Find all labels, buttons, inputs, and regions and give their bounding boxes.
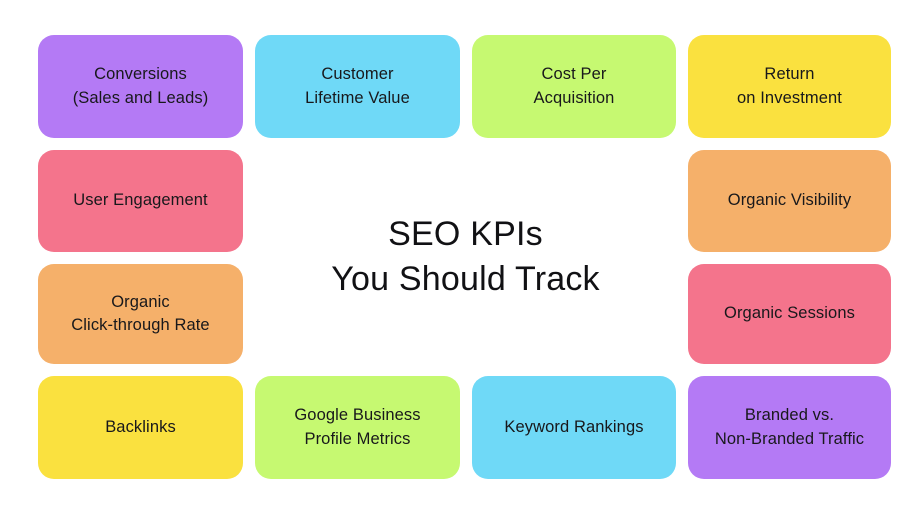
kpi-card-return-on-investment[interactable]: Return on Investment <box>688 35 891 138</box>
kpi-card-cost-per-acquisition[interactable]: Cost Per Acquisition <box>472 35 676 138</box>
title-line-2: You Should Track <box>331 257 599 302</box>
kpi-card-user-engagement[interactable]: User Engagement <box>38 150 243 252</box>
kpi-card-organic-sessions[interactable]: Organic Sessions <box>688 264 891 364</box>
kpi-card-label: Cost Per Acquisition <box>534 63 615 110</box>
kpi-card-label: Keyword Rankings <box>504 416 643 439</box>
kpi-card-conversions[interactable]: Conversions (Sales and Leads) <box>38 35 243 138</box>
kpi-card-label: Google Business Profile Metrics <box>294 404 420 451</box>
kpi-card-grid: Conversions (Sales and Leads) Customer L… <box>38 35 888 478</box>
kpi-card-label: Customer Lifetime Value <box>305 63 410 110</box>
seo-kpi-infographic: Conversions (Sales and Leads) Customer L… <box>0 0 923 510</box>
kpi-card-label: Return on Investment <box>737 63 842 110</box>
kpi-card-customer-lifetime-value[interactable]: Customer Lifetime Value <box>255 35 460 138</box>
kpi-card-backlinks[interactable]: Backlinks <box>38 376 243 479</box>
kpi-card-label: Backlinks <box>105 416 176 439</box>
kpi-card-organic-click-through-rate[interactable]: Organic Click-through Rate <box>38 264 243 364</box>
kpi-card-label: Organic Sessions <box>724 302 855 325</box>
kpi-card-label: Branded vs. Non-Branded Traffic <box>715 404 864 451</box>
kpi-card-label: Conversions (Sales and Leads) <box>73 63 209 110</box>
kpi-card-label: User Engagement <box>73 189 208 212</box>
infographic-title: SEO KPIs You Should Track <box>255 150 676 364</box>
kpi-card-google-business-profile-metrics[interactable]: Google Business Profile Metrics <box>255 376 460 479</box>
kpi-card-keyword-rankings[interactable]: Keyword Rankings <box>472 376 676 479</box>
title-line-1: SEO KPIs <box>388 212 543 257</box>
kpi-card-label: Organic Visibility <box>728 189 851 212</box>
kpi-card-branded-vs-non-branded-traffic[interactable]: Branded vs. Non-Branded Traffic <box>688 376 891 479</box>
kpi-card-label: Organic Click-through Rate <box>71 291 209 338</box>
kpi-card-organic-visibility[interactable]: Organic Visibility <box>688 150 891 252</box>
